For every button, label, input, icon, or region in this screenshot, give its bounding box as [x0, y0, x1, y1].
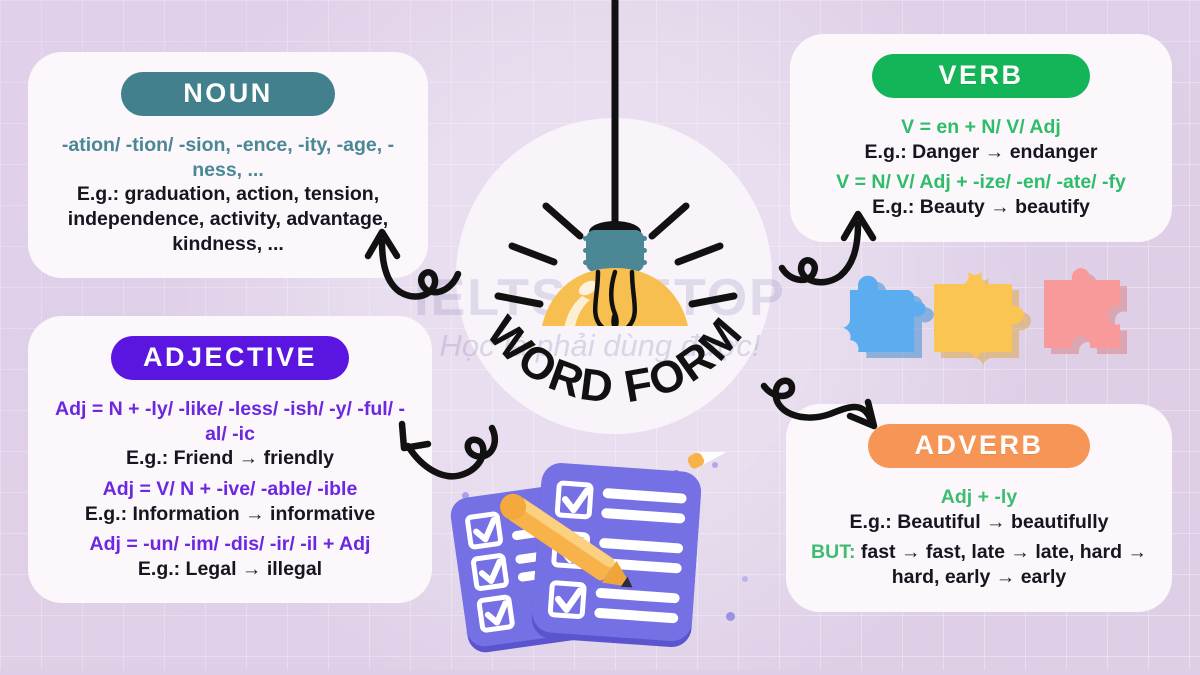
card-adjective-badge: ADJECTIVE: [111, 336, 349, 380]
word-form-title: WORD FORM: [477, 306, 753, 413]
card-adjective-block: Adj = -un/ -im/ -dis/ -ir/ -il + Adj E.g…: [46, 532, 414, 581]
card-adverb-badge: ADVERB: [868, 424, 1089, 468]
card-adjective-example: E.g.: Friend → friendly: [46, 446, 414, 471]
card-adjective-example: E.g.: Information → informative: [46, 502, 414, 527]
confetti-dot: [742, 576, 748, 582]
card-adjective-rule: Adj = V/ N + -ive/ -able/ -ible: [46, 477, 414, 502]
svg-text:WORD FORM: WORD FORM: [477, 306, 753, 413]
page-title: WORD FORM: [440, 160, 790, 460]
card-verb-example: E.g.: Danger → endanger: [808, 140, 1154, 165]
card-adjective-block: Adj = V/ N + -ive/ -able/ -ible E.g.: In…: [46, 477, 414, 526]
puzzle-piece-pink: [1044, 268, 1127, 354]
card-adverb-exception: BUT: fast → fast, late → late, hard → ha…: [804, 540, 1154, 589]
card-adjective-block: Adj = N + -ly/ -like/ -less/ -ish/ -y/ -…: [46, 397, 414, 471]
card-adjective-example: E.g.: Legal → illegal: [46, 557, 414, 582]
card-adverb-exception-label: BUT:: [811, 541, 855, 563]
card-noun-example: E.g.: graduation, action, tension, indep…: [46, 182, 410, 256]
card-noun-rule: -ation/ -tion/ -sion, -ence, -ity, -age,…: [46, 133, 410, 182]
card-adjective: ADJECTIVE Adj = N + -ly/ -like/ -less/ -…: [28, 316, 432, 603]
card-noun-block: -ation/ -tion/ -sion, -ence, -ity, -age,…: [46, 133, 410, 256]
card-adverb-rule: Adj + -ly: [804, 485, 1154, 510]
card-adverb-exception-text: fast → fast, late → late, hard → hard, e…: [855, 541, 1147, 588]
card-noun-badge: NOUN: [121, 72, 335, 116]
puzzle-piece-yellow: [934, 272, 1031, 370]
card-adverb-example: E.g.: Beautiful → beautifully: [804, 510, 1154, 535]
card-verb-rule: V = en + N/ V/ Adj: [808, 115, 1154, 140]
puzzle-pieces-icon: [840, 248, 1160, 383]
card-adverb-block: Adj + -ly E.g.: Beautiful → beautifully: [804, 485, 1154, 534]
card-verb-badge: VERB: [872, 54, 1089, 98]
card-verb-block: V = en + N/ V/ Adj E.g.: Danger → endang…: [808, 115, 1154, 164]
card-adjective-rule: Adj = -un/ -im/ -dis/ -ir/ -il + Adj: [46, 532, 414, 557]
card-adjective-rule: Adj = N + -ly/ -like/ -less/ -ish/ -y/ -…: [46, 397, 414, 446]
